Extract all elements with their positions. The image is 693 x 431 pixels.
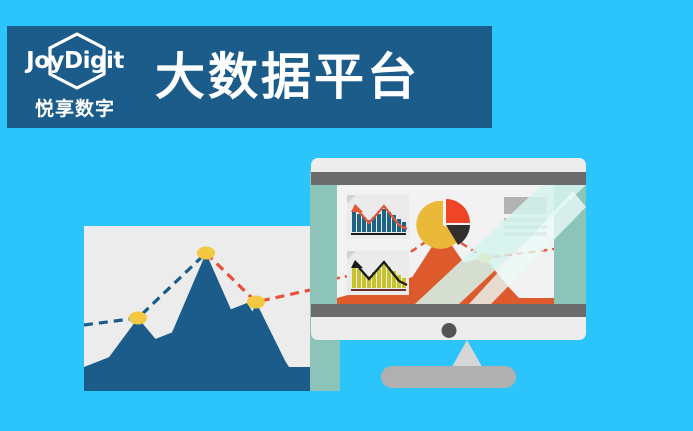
placeholder-heading-block	[504, 197, 547, 214]
data-marker	[247, 296, 265, 309]
monitor-base	[381, 366, 516, 388]
data-marker	[478, 253, 492, 264]
bar-line-card-olive	[347, 251, 409, 295]
screen-band-right	[554, 185, 586, 304]
header-banner: JoyDigit 悦享数字 大数据平台	[7, 26, 492, 128]
mountain-chart-svg	[84, 226, 310, 391]
text-placeholder-block	[504, 197, 547, 239]
placeholder-line	[504, 218, 547, 222]
monitor-bezel-top	[311, 172, 586, 185]
monitor-illustration	[311, 158, 586, 340]
power-button-icon	[441, 323, 456, 338]
mountain-area-chart-panel	[84, 226, 310, 391]
monitor-screen	[311, 185, 586, 304]
pie-chart	[416, 197, 474, 255]
bar-line-card-blue	[347, 195, 409, 239]
arrow-up-left-icon	[351, 260, 363, 268]
monitor-bezel-bottom	[311, 304, 586, 317]
screen-band-left	[311, 185, 337, 304]
pie-slice-red	[446, 199, 470, 223]
logo-subtitle: 悦享数字	[35, 94, 115, 121]
axis-line	[351, 289, 406, 291]
illustration-stage: JoyDigit 悦享数字 大数据平台	[0, 0, 693, 431]
blue-bar-chart-svg	[347, 195, 409, 239]
olive-bar-chart-svg	[347, 251, 409, 295]
hexagon-icon: JoyDigit	[16, 34, 134, 90]
data-marker	[197, 247, 215, 260]
brand-logo: JoyDigit 悦享数字	[13, 31, 137, 123]
logo-wordmark: JoyDigit	[26, 50, 124, 73]
placeholder-line	[504, 232, 547, 236]
arrow-up-left-icon	[351, 204, 363, 212]
data-marker	[129, 312, 147, 325]
axis-line	[351, 233, 406, 235]
placeholder-line	[504, 225, 547, 229]
page-title: 大数据平台	[155, 52, 420, 102]
